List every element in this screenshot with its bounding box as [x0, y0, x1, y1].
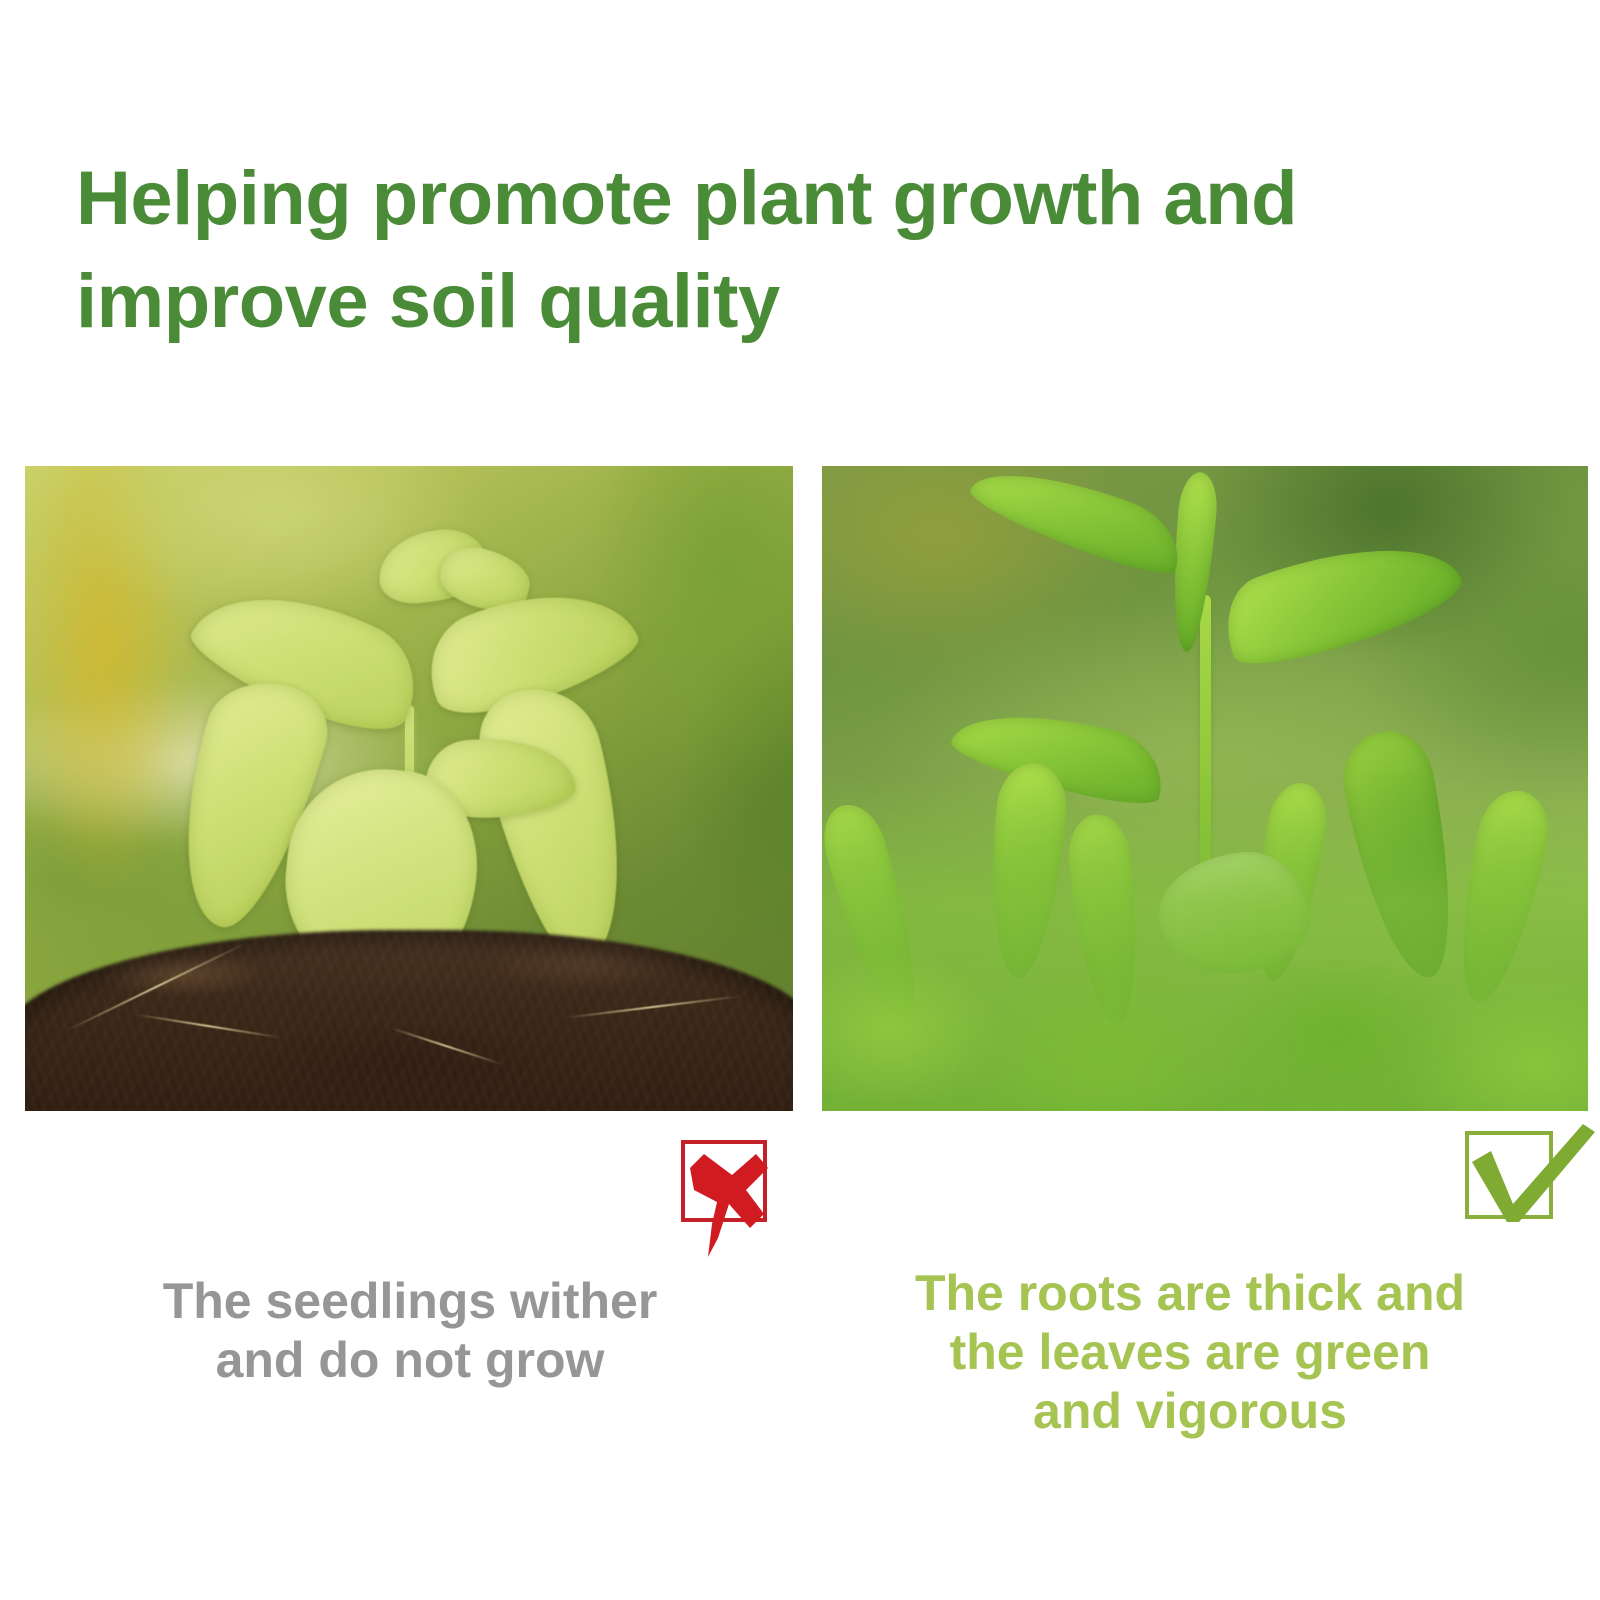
- caption-left: The seedlings wither and do not grow: [60, 1272, 760, 1390]
- soil-mound: [25, 930, 793, 1111]
- green-check-mark-icon: [1447, 1110, 1587, 1260]
- photo-right-scene: [822, 466, 1588, 1111]
- photo-left-scene: [25, 466, 793, 1111]
- comparison-photo-right: [822, 466, 1588, 1111]
- comparison-photo-left: [25, 466, 793, 1111]
- tea-field-canopy: [822, 776, 1588, 1111]
- red-x-mark-icon: [660, 1118, 800, 1268]
- caption-right: The roots are thick and the leaves are g…: [840, 1264, 1540, 1441]
- page-title: Helping promote plant growth and improve…: [76, 148, 1496, 353]
